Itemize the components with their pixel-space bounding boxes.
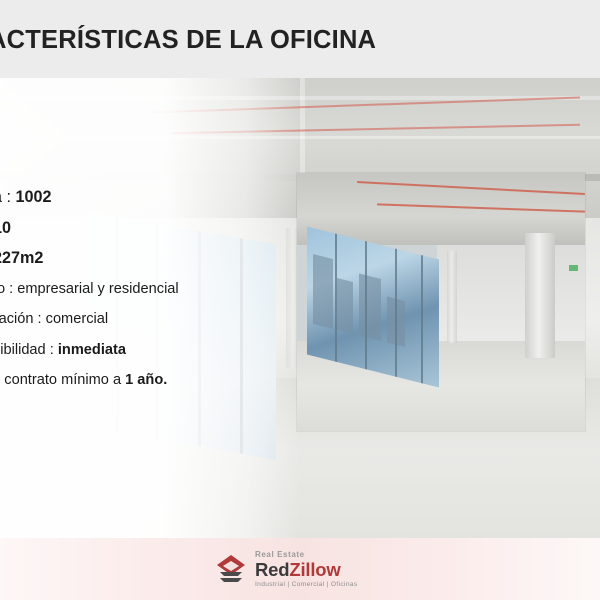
spec-line: onibilidad : inmediata [0,335,284,366]
redzillow-logo: Real Estate RedZillow Industrial | Comer… [214,548,394,592]
slide: ACTERÍSTICAS DE LA OFICINA na : 1002 : 1… [0,0,600,600]
spec-line: rno : empresarial y residencial [0,274,284,305]
ceiling-beam [300,78,305,188]
logo-text-block: Real Estate RedZillow Industrial | Comer… [255,551,358,589]
inset-pillar [447,251,457,343]
office-specs-list: na : 1002 : 10 : 227m2 rno : empresarial… [0,182,284,396]
logo-mark-icon [214,553,248,587]
spec-label: o : contrato mínimo a [0,372,125,388]
logo-tagline-bottom: Industrial | Comercial | Oficinas [255,582,358,589]
page-title: ACTERÍSTICAS DE LA OFICINA [0,26,458,55]
spec-value: 10 [0,219,11,237]
inset-back-wall [437,245,585,345]
logo-tagline-top: Real Estate [255,551,358,559]
spec-line: na : 1002 [0,182,284,213]
inset-pillar [525,233,555,358]
spec-label: ficación : comercial [0,311,108,327]
logo-name: RedZillow [255,561,358,580]
spec-value: 227m2 [0,249,43,267]
spec-label: rno : empresarial y residencial [0,281,179,297]
spec-line: : 227m2 [0,243,284,274]
spec-value: inmediata [58,342,126,358]
spec-value: 1 año. [125,372,167,388]
spec-label: na : [0,188,16,206]
spec-line: : 10 [0,213,284,244]
spec-label: onibilidad : [0,342,58,358]
logo-name-part2: Zillow [289,559,340,580]
spec-value: 1002 [16,188,52,206]
spec-line: o : contrato mínimo a 1 año. [0,365,284,396]
exit-sign-icon [569,265,578,271]
spec-line: ficación : comercial [0,304,284,335]
inset-office-photo [297,173,585,431]
logo-name-part1: Red [255,559,289,580]
